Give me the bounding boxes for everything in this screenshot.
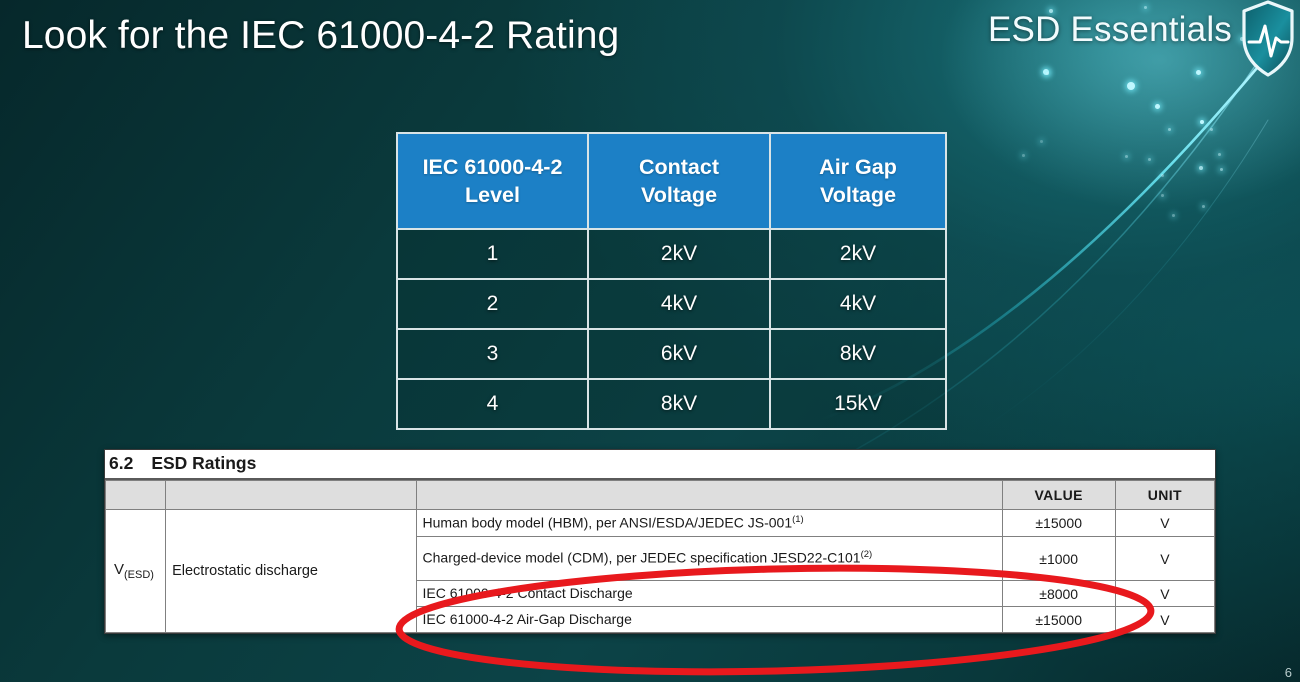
table-row: 3 6kV 8kV xyxy=(397,329,946,379)
description-text: Human body model (HBM), per ANSI/ESDA/JE… xyxy=(423,514,793,530)
cell-airgap: 15kV xyxy=(770,379,946,429)
particle xyxy=(1022,154,1025,157)
header-line: Voltage xyxy=(820,183,896,207)
column-header-contact-voltage: Contact Voltage xyxy=(588,133,770,229)
column-header-level: IEC 61000-4-2 Level xyxy=(397,133,588,229)
cell-level: 1 xyxy=(397,229,588,279)
column-header-parameter xyxy=(166,481,416,510)
column-header-air-gap-voltage: Air Gap Voltage xyxy=(770,133,946,229)
cell-contact: 8kV xyxy=(588,379,770,429)
particle xyxy=(1046,72,1049,75)
cell-value: ±1000 xyxy=(1002,537,1115,581)
table-row: V(ESD) Electrostatic discharge Human bod… xyxy=(106,510,1215,537)
symbol-text: V xyxy=(114,561,124,578)
particle xyxy=(1127,82,1135,90)
datasheet-excerpt: 6.2 ESD Ratings VALUE UNIT V(ESD) xyxy=(104,449,1216,634)
cell-contact: 4kV xyxy=(588,279,770,329)
cell-level: 2 xyxy=(397,279,588,329)
particle xyxy=(1161,194,1164,197)
particle xyxy=(1218,153,1221,156)
particle xyxy=(1172,214,1175,217)
particle xyxy=(1210,128,1213,131)
section-number: 6.2 xyxy=(109,453,133,474)
header-line: Contact xyxy=(639,155,719,179)
column-header-symbol xyxy=(106,481,166,510)
column-header-description xyxy=(416,481,1002,510)
column-header-unit: UNIT xyxy=(1115,481,1214,510)
particle xyxy=(1125,155,1128,158)
iec-rating-table: IEC 61000-4-2 Level Contact Voltage Air … xyxy=(396,132,947,430)
cell-value: ±15000 xyxy=(1002,607,1115,633)
symbol-subscript: (ESD) xyxy=(124,569,154,581)
header-line: Voltage xyxy=(641,183,717,207)
page-title: Look for the IEC 61000-4-2 Rating xyxy=(22,14,619,58)
particle xyxy=(1200,120,1204,124)
particle xyxy=(1220,168,1223,171)
table-row: 4 8kV 15kV xyxy=(397,379,946,429)
particle xyxy=(1144,6,1147,9)
particle xyxy=(1168,128,1171,131)
particle xyxy=(1199,166,1203,170)
header-line: Air Gap xyxy=(819,155,897,179)
particle xyxy=(1043,69,1049,75)
cell-level: 4 xyxy=(397,379,588,429)
cell-description: IEC 61000-4-2 Air-Gap Discharge xyxy=(416,607,1002,633)
particle xyxy=(1040,140,1043,143)
cell-symbol: V(ESD) xyxy=(106,510,166,633)
cell-airgap: 8kV xyxy=(770,329,946,379)
table-row: 1 2kV 2kV xyxy=(397,229,946,279)
description-text: Charged-device model (CDM), per JEDEC sp… xyxy=(423,550,861,566)
header-line: IEC 61000-4-2 xyxy=(423,155,563,179)
brand-label: ESD Essentials xyxy=(988,10,1232,50)
cell-description: IEC 61000-4-2 Contact Discharge xyxy=(416,581,1002,607)
cell-airgap: 4kV xyxy=(770,279,946,329)
table-header-row: VALUE UNIT xyxy=(106,481,1215,510)
cell-contact: 2kV xyxy=(588,229,770,279)
cell-value: ±15000 xyxy=(1002,510,1115,537)
cell-unit: V xyxy=(1115,510,1214,537)
cell-unit: V xyxy=(1115,537,1214,581)
table-row: 2 4kV 4kV xyxy=(397,279,946,329)
slide: Look for the IEC 61000-4-2 Rating ESD Es… xyxy=(0,0,1300,682)
particle xyxy=(1161,174,1164,177)
datasheet-section-heading: 6.2 ESD Ratings xyxy=(105,450,1215,480)
particle xyxy=(1155,104,1160,109)
particle xyxy=(1202,205,1205,208)
cell-airgap: 2kV xyxy=(770,229,946,279)
page-number: 6 xyxy=(1285,665,1292,680)
cell-unit: V xyxy=(1115,607,1214,633)
particle xyxy=(1196,70,1201,75)
cell-description: Charged-device model (CDM), per JEDEC sp… xyxy=(416,537,1002,581)
cell-value: ±8000 xyxy=(1002,581,1115,607)
cell-level: 3 xyxy=(397,329,588,379)
cell-unit: V xyxy=(1115,581,1214,607)
section-title: ESD Ratings xyxy=(151,453,256,474)
shield-heartbeat-icon xyxy=(1240,0,1296,78)
cell-parameter: Electrostatic discharge xyxy=(166,510,416,633)
footnote-marker: (1) xyxy=(792,514,804,525)
esd-ratings-table: VALUE UNIT V(ESD) Electrostatic discharg… xyxy=(105,480,1215,633)
column-header-value: VALUE xyxy=(1002,481,1115,510)
particle xyxy=(1148,158,1151,161)
header-line: Level xyxy=(465,183,520,207)
table-header-row: IEC 61000-4-2 Level Contact Voltage Air … xyxy=(397,133,946,229)
footnote-marker: (2) xyxy=(861,549,873,560)
cell-contact: 6kV xyxy=(588,329,770,379)
cell-description: Human body model (HBM), per ANSI/ESDA/JE… xyxy=(416,510,1002,537)
